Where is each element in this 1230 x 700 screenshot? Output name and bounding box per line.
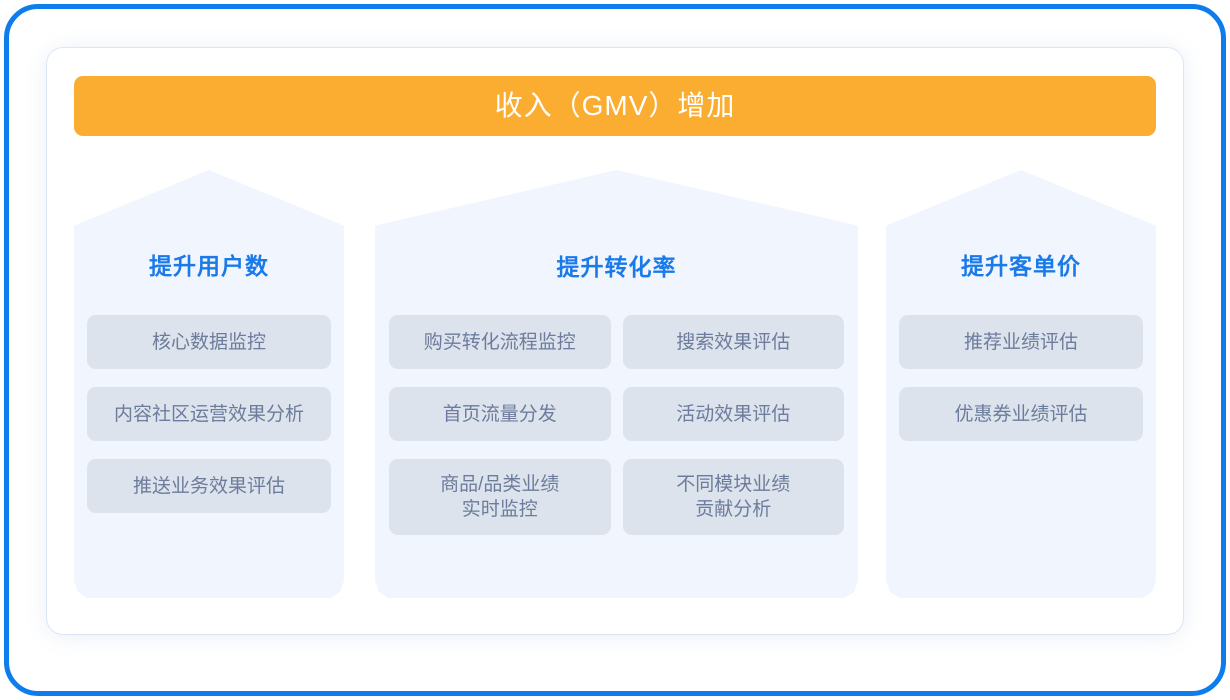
chip-item[interactable]: 优惠券业绩评估 — [899, 387, 1143, 441]
chip-item[interactable]: 活动效果评估 — [623, 387, 845, 441]
chip-list-1: 核心数据监控内容社区运营效果分析推送业务效果评估 — [74, 315, 344, 513]
chip-item[interactable]: 商品/品类业绩 实时监控 — [389, 459, 611, 535]
pillar-content-1: 提升用户数 核心数据监控内容社区运营效果分析推送业务效果评估 — [74, 170, 344, 598]
chip-item[interactable]: 推荐业绩评估 — [899, 315, 1143, 369]
chip-item[interactable]: 内容社区运营效果分析 — [87, 387, 331, 441]
pillar-increase-users[interactable]: 提升用户数 核心数据监控内容社区运营效果分析推送业务效果评估 — [74, 170, 344, 598]
banner-title: 收入（GMV）增加 — [495, 92, 736, 120]
chip-list-3: 推荐业绩评估优惠券业绩评估 — [886, 315, 1156, 441]
chip-item[interactable]: 购买转化流程监控 — [389, 315, 611, 369]
pillar-increase-conversion[interactable]: 提升转化率 购买转化流程监控搜索效果评估首页流量分发活动效果评估商品/品类业绩 … — [375, 170, 858, 598]
pillar-title-1: 提升用户数 — [74, 255, 344, 278]
pillar-title-2: 提升转化率 — [375, 256, 858, 279]
pillar-title-3: 提升客单价 — [886, 255, 1156, 278]
pillar-content-2: 提升转化率 购买转化流程监控搜索效果评估首页流量分发活动效果评估商品/品类业绩 … — [375, 170, 858, 598]
chip-item[interactable]: 首页流量分发 — [389, 387, 611, 441]
pillar-content-3: 提升客单价 推荐业绩评估优惠券业绩评估 — [886, 170, 1156, 598]
pillar-increase-arpu[interactable]: 提升客单价 推荐业绩评估优惠券业绩评估 — [886, 170, 1156, 598]
screen-root: 收入（GMV）增加 提升用户数 核心数据监控内容社区运营效果分析推送业务效果评估… — [0, 0, 1230, 700]
gmv-banner: 收入（GMV）增加 — [74, 76, 1156, 136]
chip-list-2: 购买转化流程监控搜索效果评估首页流量分发活动效果评估商品/品类业绩 实时监控不同… — [375, 315, 858, 535]
chip-item[interactable]: 推送业务效果评估 — [87, 459, 331, 513]
chip-item[interactable]: 不同模块业绩 贡献分析 — [623, 459, 845, 535]
chip-item[interactable]: 核心数据监控 — [87, 315, 331, 369]
chip-item[interactable]: 搜索效果评估 — [623, 315, 845, 369]
